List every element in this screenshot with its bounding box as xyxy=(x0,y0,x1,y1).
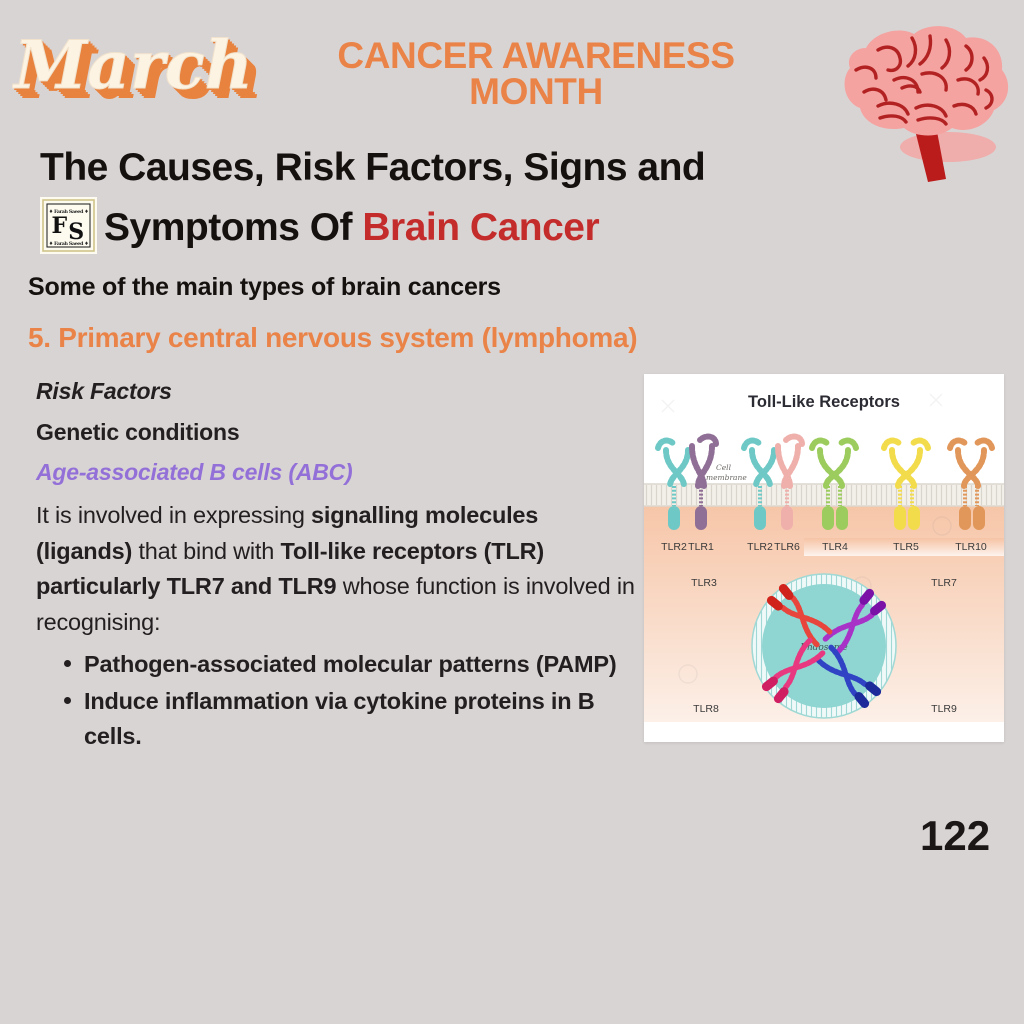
page-title-line1: The Causes, Risk Factors, Signs and xyxy=(40,140,820,197)
awareness-title-line2: MONTH xyxy=(272,74,800,110)
svg-text:TLR4: TLR4 xyxy=(822,541,848,553)
svg-text:TLR2: TLR2 xyxy=(661,541,687,553)
svg-text:Toll-Like Receptors: Toll-Like Receptors xyxy=(748,393,900,411)
genetic-conditions-label: Genetic conditions xyxy=(36,419,636,446)
list-item: Pathogen-associated molecular patterns (… xyxy=(70,647,636,682)
awareness-banner: .mshadow { font-family: "DejaVu Serif", … xyxy=(0,0,1024,140)
page-number: 122 xyxy=(920,812,990,860)
page-title-line2: ♦ Farah Saeed ♦ ♦ Farah Saeed ♦ F S Symp… xyxy=(40,197,820,257)
svg-text:F: F xyxy=(51,213,67,239)
recognition-bullet-list: Pathogen-associated molecular patterns (… xyxy=(36,647,636,755)
section-heading: 5. Primary central nervous system (lymph… xyxy=(28,322,637,354)
svg-text:TLR7: TLR7 xyxy=(931,577,957,589)
list-item: Induce inflammation via cytokine protein… xyxy=(70,684,636,755)
svg-text:Cell: Cell xyxy=(716,463,732,472)
svg-text:TLR10: TLR10 xyxy=(955,541,987,553)
risk-factors-label: Risk Factors xyxy=(36,378,636,405)
page-title: The Causes, Risk Factors, Signs and ♦ Fa… xyxy=(40,140,820,256)
svg-text:membrane: membrane xyxy=(706,473,747,482)
farah-saeed-logo: ♦ Farah Saeed ♦ ♦ Farah Saeed ♦ F S xyxy=(40,197,97,254)
svg-text:TLR5: TLR5 xyxy=(893,541,919,553)
paragraph-part-0: It is involved in expressing xyxy=(36,502,311,528)
page-title-line2-pre: Symptoms Of xyxy=(104,206,362,249)
svg-text:TLR8: TLR8 xyxy=(693,703,719,715)
svg-text:March: March xyxy=(12,26,253,104)
svg-text:TLR6: TLR6 xyxy=(774,541,800,553)
body-paragraph: It is involved in expressing signalling … xyxy=(36,498,636,641)
svg-text:TLR1: TLR1 xyxy=(688,541,714,553)
page-title-highlight: Brain Cancer xyxy=(362,206,599,249)
svg-text:TLR2: TLR2 xyxy=(747,541,773,553)
awareness-title-line1: CANCER AWARENESS xyxy=(337,35,734,76)
abc-label: Age-associated B cells (ABC) xyxy=(36,459,636,486)
awareness-month-title: CANCER AWARENESS MONTH xyxy=(272,38,800,111)
brain-icon xyxy=(818,14,1018,186)
body-content: Risk Factors Genetic conditions Age-asso… xyxy=(36,378,636,757)
march-script-wordmark: .mshadow { font-family: "DejaVu Serif", … xyxy=(12,22,272,126)
toll-like-receptors-figure: Toll-Like Receptors Cell membrane TLR2 xyxy=(644,374,1004,742)
slide-root: .mshadow { font-family: "DejaVu Serif", … xyxy=(0,0,1024,1024)
svg-text:TLR3: TLR3 xyxy=(691,577,717,589)
paragraph-part-2: that bind with xyxy=(132,538,280,564)
subheading: Some of the main types of brain cancers xyxy=(28,273,501,302)
svg-text:S: S xyxy=(68,219,83,245)
svg-text:TLR9: TLR9 xyxy=(931,703,957,715)
